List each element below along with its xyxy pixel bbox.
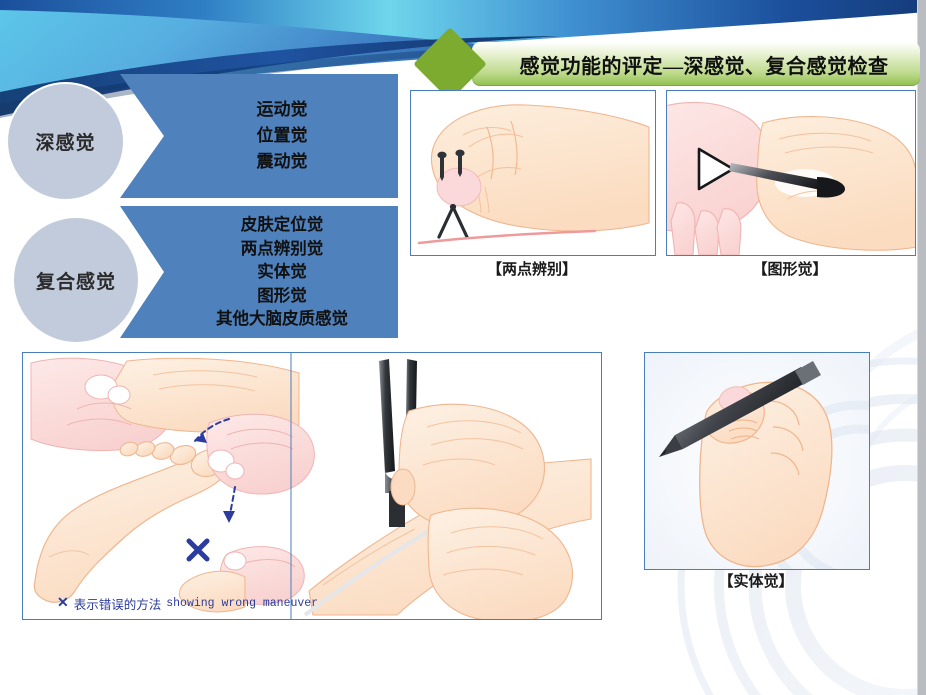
list-item: 两点辨别觉 [241,237,324,260]
circle-label-deep-sense: 深感觉 [8,84,123,199]
list-item: 运动觉 [257,97,308,123]
x-cross-icon: ✕ [57,595,69,612]
figure-stereognosis [644,352,870,570]
chevron-box-composite-sense: 皮肤定位觉 两点辨别觉 实体觉 图形觉 其他大脑皮质感觉 [120,206,398,338]
figure-graphesthesia [666,90,916,256]
right-edge-strip [918,0,926,695]
caption-graphesthesia: 【图形觉】 [666,258,914,280]
figure-deep-sense-combined: ✕ 表示错误的方法 showing wrong maneuver [22,352,602,620]
slide-title-banner: 感觉功能的评定—深感觉、复合感觉检查 [424,42,920,86]
list-item: 震动觉 [257,149,308,175]
deep-sense-item-list: 运动觉 位置觉 震动觉 [120,74,398,198]
wrong-maneuver-annotation: ✕ 表示错误的方法 showing wrong maneuver [57,593,323,613]
list-item: 图形觉 [257,284,307,307]
list-item: 皮肤定位觉 [241,213,324,236]
circle-label-composite-sense: 复合感觉 [14,218,138,342]
list-item: 其他大脑皮质感觉 [216,307,348,330]
title-bar-background: 感觉功能的评定—深感觉、复合感觉检查 [472,42,920,86]
slide-canvas: 感觉功能的评定—深感觉、复合感觉检查 运动觉 位置觉 震动觉 深感觉 皮肤定位觉… [0,0,926,695]
list-item: 位置觉 [257,123,308,149]
page-title: 感觉功能的评定—深感觉、复合感觉检查 [472,42,920,86]
composite-sense-item-list: 皮肤定位觉 两点辨别觉 实体觉 图形觉 其他大脑皮质感觉 [120,206,398,338]
caption-two-point-discrimination: 【两点辨别】 [410,258,654,280]
annotation-english: showing wrong maneuver [166,597,318,610]
chevron-box-deep-sense: 运动觉 位置觉 震动觉 [120,74,398,198]
caption-stereognosis: 【实体觉】 [644,570,868,592]
list-item: 实体觉 [257,260,307,283]
right-edge-hairline [917,0,918,695]
annotation-chinese: 表示错误的方法 [74,594,162,613]
figure-two-point-discrimination [410,90,656,256]
